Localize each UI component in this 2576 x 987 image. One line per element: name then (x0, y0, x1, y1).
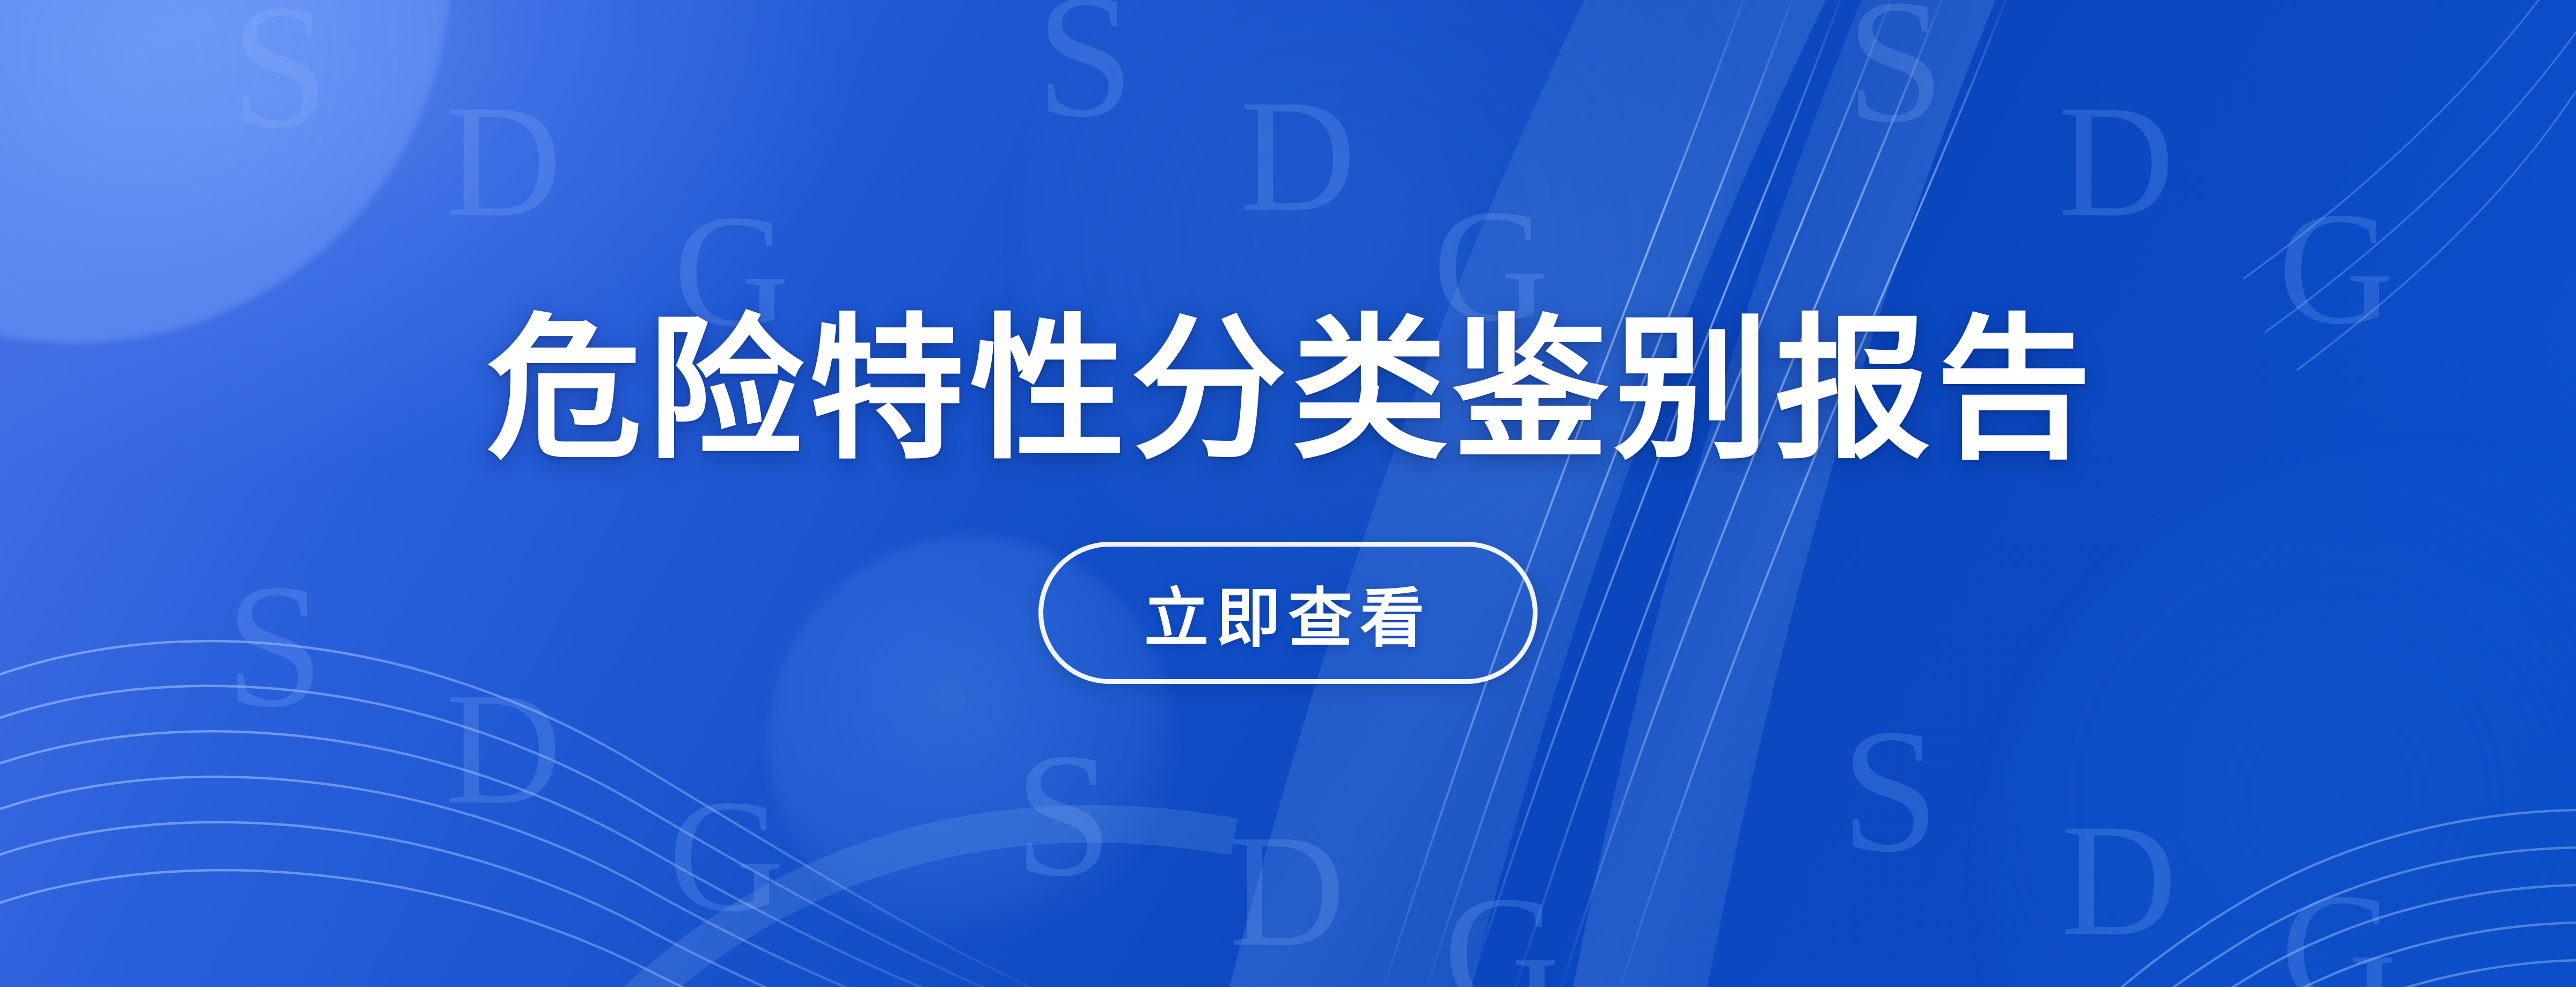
page-title: 危险特性分类鉴别报告 (487, 303, 2097, 477)
view-now-button[interactable]: 立即查看 (1038, 542, 1538, 684)
hero-banner: SDGSDGSDGSDGSDGSDG 危险特性分类鉴别报告 立即查看 (0, 0, 2576, 987)
banner-content: 危险特性分类鉴别报告 立即查看 (0, 0, 2576, 987)
